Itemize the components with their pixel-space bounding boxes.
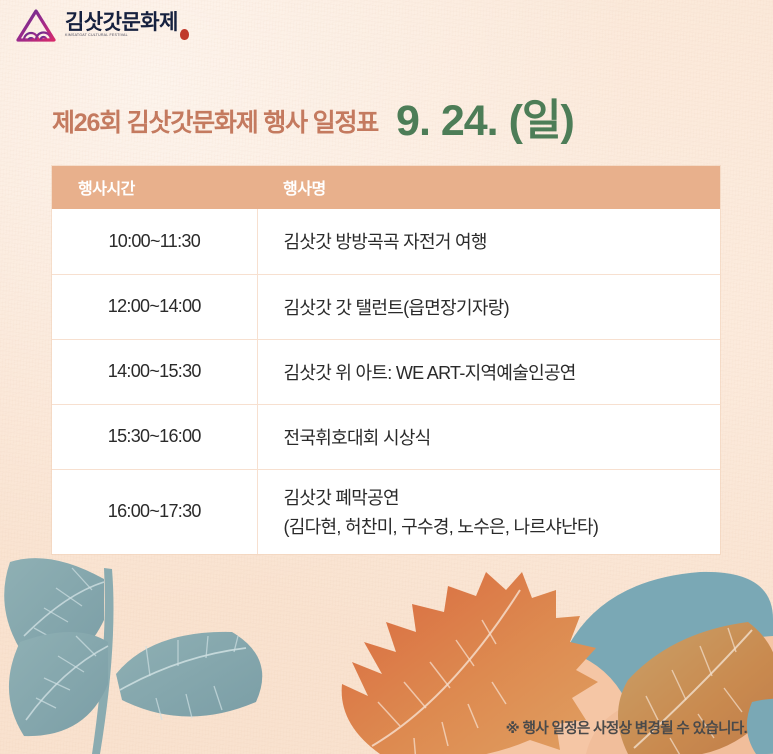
table-row: 16:00~17:30 김삿갓 폐막공연 (김다현, 허찬미, 구수경, 노수은… xyxy=(52,469,720,554)
table-row: 10:00~11:30 김삿갓 방방곡곡 자전거 여행 xyxy=(52,209,720,274)
logo-subtext: KIMSATGAT CULTURAL FESTIVAL xyxy=(65,34,178,38)
footer-note: ※ 행사 일정은 사정상 변경될 수 있습니다. xyxy=(506,717,747,738)
title-main-text: 제26회 김삿갓문화제 행사 일정표 xyxy=(52,103,378,139)
logo-wordmark: 김삿갓문화제 xyxy=(65,11,178,34)
title-date-text: 9. 24. (일) xyxy=(396,100,574,143)
table-row: 14:00~15:30 김삿갓 위 아트: WE ART-지역예술인공연 xyxy=(52,339,720,404)
festival-logo: 김삿갓문화제 KIMSATGAT CULTURAL FESTIVAL xyxy=(0,0,773,52)
cell-time: 12:00~14:00 xyxy=(52,274,257,339)
table-header-row: 행사시간 행사명 xyxy=(52,166,720,209)
schedule-table: 행사시간 행사명 10:00~11:30 김삿갓 방방곡곡 자전거 여행 12:… xyxy=(52,166,720,554)
table-row: 12:00~14:00 김삿갓 갓 탤런트(읍면장기자랑) xyxy=(52,274,720,339)
cell-time: 15:30~16:00 xyxy=(52,404,257,469)
column-header-time: 행사시간 xyxy=(52,166,257,209)
cell-name: 김삿갓 폐막공연 (김다현, 허찬미, 구수경, 노수은, 나르샤난타) xyxy=(257,469,720,554)
cell-time: 16:00~17:30 xyxy=(52,469,257,554)
cell-name-line2: (김다현, 허찬미, 구수경, 노수은, 나르샤난타) xyxy=(284,513,721,539)
cell-name: 김삿갓 위 아트: WE ART-지역예술인공연 xyxy=(257,339,720,404)
schedule-table-body: 10:00~11:30 김삿갓 방방곡곡 자전거 여행 12:00~14:00 … xyxy=(52,209,720,554)
cell-time: 14:00~15:30 xyxy=(52,339,257,404)
mountain-wave-logo-icon xyxy=(14,7,58,45)
cell-name: 김삿갓 갓 탤런트(읍면장기자랑) xyxy=(257,274,720,339)
cell-name-line1: 김삿갓 폐막공연 xyxy=(284,488,399,508)
page-title: 제26회 김삿갓문화제 행사 일정표 9. 24. (일) xyxy=(52,100,733,143)
cell-name: 전국휘호대회 시상식 xyxy=(257,404,720,469)
cell-time: 10:00~11:30 xyxy=(52,209,257,274)
cell-name: 김삿갓 방방곡곡 자전거 여행 xyxy=(257,209,720,274)
table-row: 15:30~16:00 전국휘호대회 시상식 xyxy=(52,404,720,469)
column-header-name: 행사명 xyxy=(257,166,720,209)
logo-seal-dot-icon xyxy=(180,29,189,40)
